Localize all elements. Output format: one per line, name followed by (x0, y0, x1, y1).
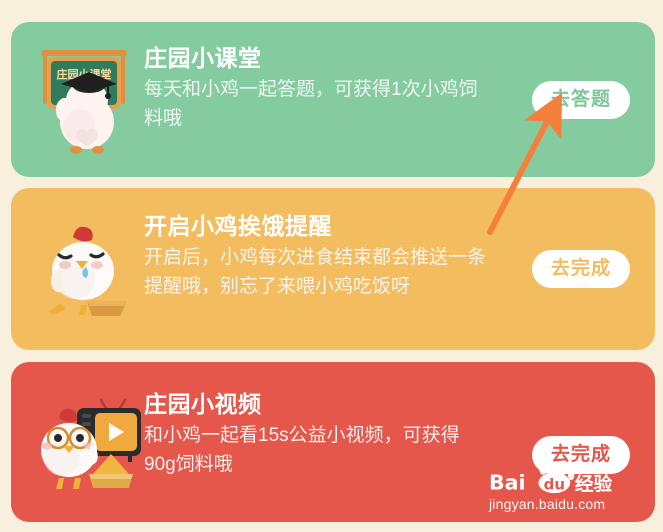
task-card-short-video[interactable]: 庄园小视频 和小鸡一起看15s公益小视频，可获得90g饲料哦 去完成 Bai d… (11, 362, 655, 522)
card-description: 每天和小鸡一起答题，可获得1次小鸡饲料哦 (144, 75, 489, 133)
watermark-url: jingyan.baidu.com (489, 496, 641, 512)
screenshot-root: 庄园小课堂 (0, 0, 663, 532)
card-description: 和小鸡一起看15s公益小视频，可获得90g饲料哦 (144, 421, 489, 479)
card-title: 庄园小视频 (144, 390, 504, 418)
card-inner: 庄园小视频 和小鸡一起看15s公益小视频，可获得90g饲料哦 去完成 Bai d… (11, 362, 655, 522)
go-complete-button-reminder[interactable]: 去完成 (532, 250, 630, 288)
card-text-block: 庄园小课堂 每天和小鸡一起答题，可获得1次小鸡饲料哦 (144, 44, 504, 133)
card-inner: 庄园小课堂 (11, 22, 655, 177)
card-inner: 开启小鸡挨饿提醒 开启后，小鸡每次进食结束都会推送一条提醒哦，别忘了来喂小鸡吃饭… (11, 188, 655, 350)
svg-text:经验: 经验 (575, 473, 613, 495)
baidu-jingyan-watermark: Bai du 经验 jingyan.baidu.com (489, 467, 641, 512)
card-text-block: 庄园小视频 和小鸡一起看15s公益小视频，可获得90g饲料哦 (144, 390, 504, 479)
card-text-block: 开启小鸡挨饿提醒 开启后，小鸡每次进食结束都会推送一条提醒哦，别忘了来喂小鸡吃饭… (144, 212, 504, 301)
crying-chicken-empty-trough-icon (29, 209, 139, 329)
chicken-glasses-tv-feed-icon (29, 382, 147, 502)
card-title: 庄园小课堂 (144, 44, 504, 72)
go-answer-button[interactable]: 去答题 (532, 81, 630, 119)
task-card-classroom[interactable]: 庄园小课堂 (11, 22, 655, 177)
card-description: 开启后，小鸡每次进食结束都会推送一条提醒哦，别忘了来喂小鸡吃饭呀 (144, 243, 489, 301)
svg-text:du: du (544, 475, 565, 493)
card-title: 开启小鸡挨饿提醒 (144, 212, 504, 240)
svg-text:Bai: Bai (489, 470, 526, 494)
chicken-graduate-blackboard-icon: 庄园小课堂 (29, 40, 139, 160)
task-card-hunger-reminder[interactable]: 开启小鸡挨饿提醒 开启后，小鸡每次进食结束都会推送一条提醒哦，别忘了来喂小鸡吃饭… (11, 188, 655, 350)
